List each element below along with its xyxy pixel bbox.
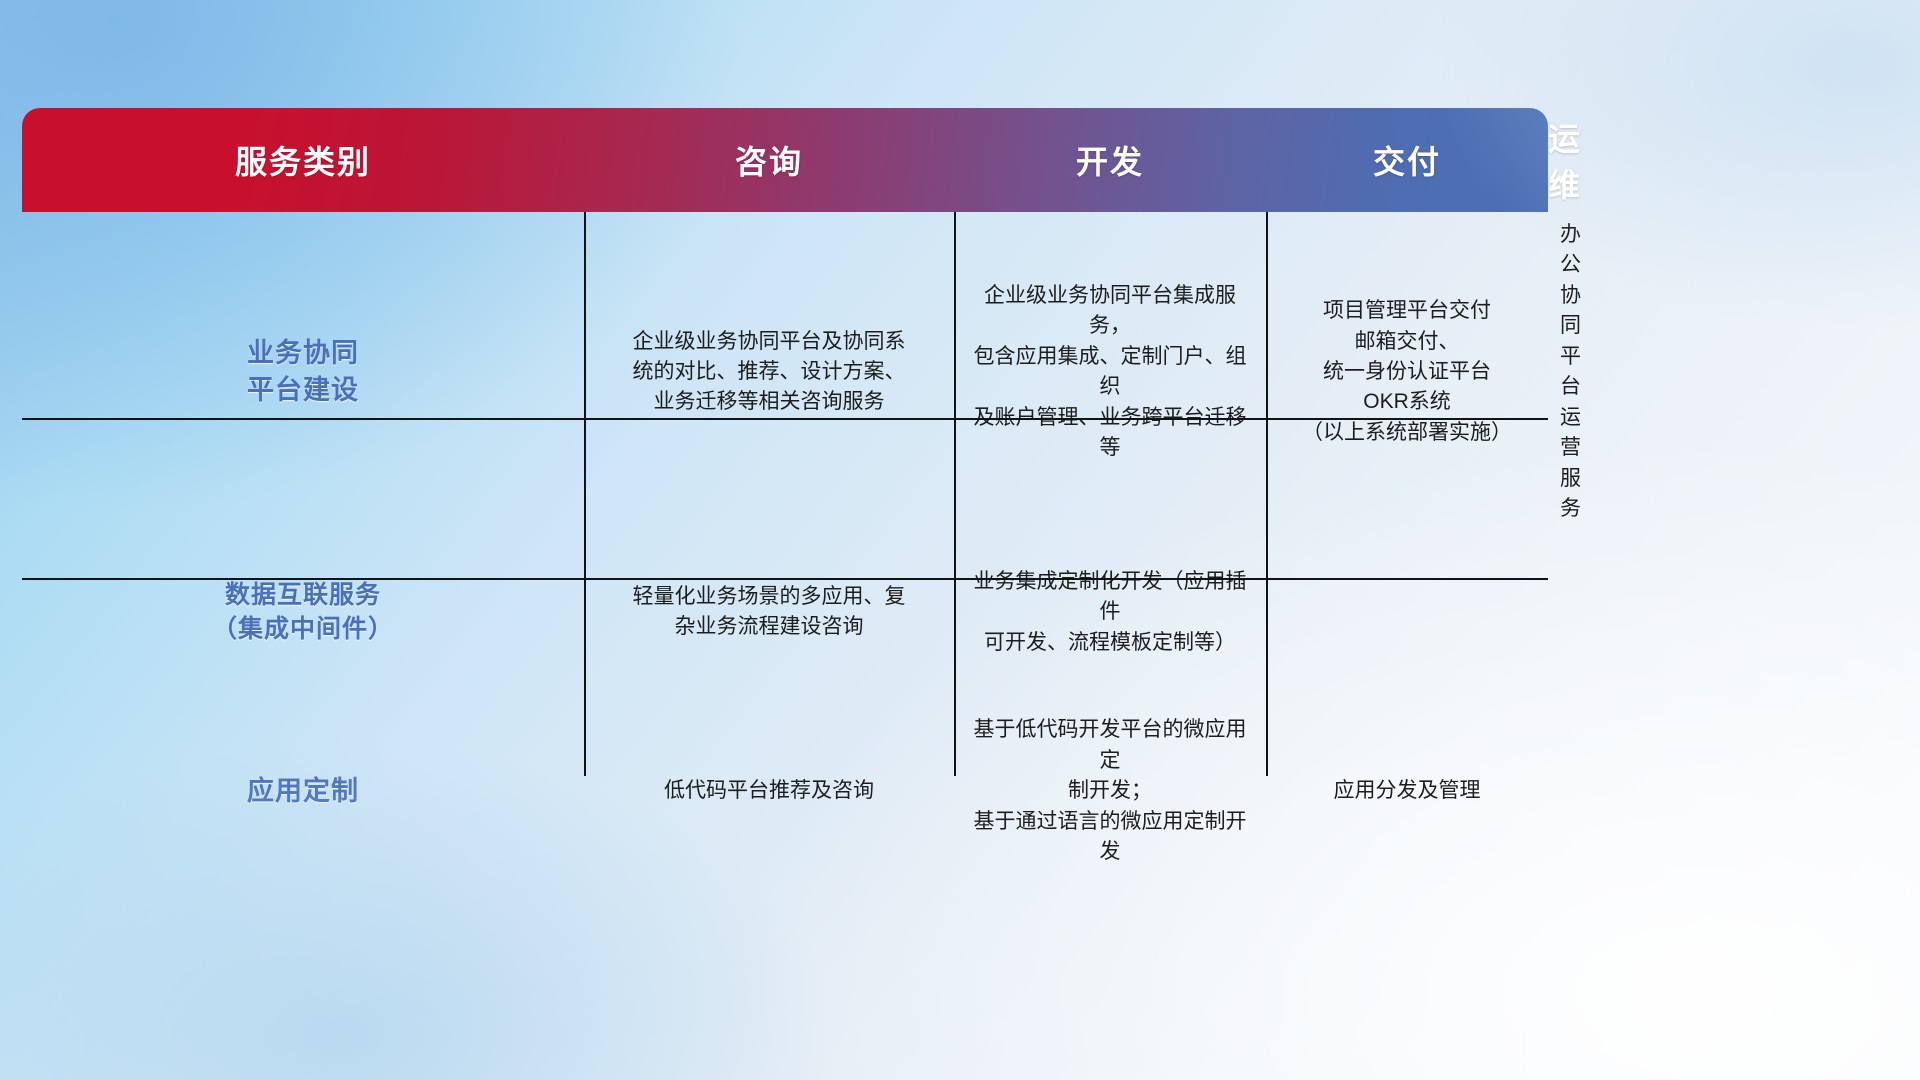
- cell-delivery: 应用分发及管理: [1266, 692, 1548, 890]
- cell-text: 应用分发及管理: [1278, 776, 1536, 806]
- slide-canvas: 服务类别 咨询 开发 交付 运维: [0, 0, 1920, 1080]
- row-divider-1: [22, 418, 1548, 420]
- table-row: 数据互联服务 （集成中间件） 轻量化业务场景的多应用、复 杂业务流程建设咨询 业…: [22, 532, 1548, 692]
- table-header: 服务类别 咨询 开发 交付 运维: [22, 108, 1548, 212]
- header-label-delivery: 交付: [1266, 137, 1548, 183]
- cell-text: 业务集成定制化开发（应用插件 可开发、流程模板定制等）: [966, 567, 1254, 658]
- service-matrix: 服务类别 咨询 开发 交付 运维: [22, 108, 1548, 890]
- row-category-label: 数据互联服务 （集成中间件）: [22, 532, 584, 692]
- cell-text: 数据互联服务 （集成中间件）: [34, 578, 572, 646]
- cell-text: 基于低代码开发平台的微应用定 制开发； 基于通过语言的微应用定制开发: [966, 715, 1254, 867]
- row-divider-2: [22, 578, 1548, 580]
- service-matrix-table: 服务类别 咨询 开发 交付 运维: [22, 108, 1548, 776]
- table-row: 业务协同 平台建设 企业级业务协同平台及协同系 统的对比、推荐、设计方案、 业务…: [22, 212, 1548, 532]
- column-divider-2: [954, 212, 956, 776]
- cell-text: 低代码平台推荐及咨询: [596, 776, 942, 806]
- column-divider-1: [584, 212, 586, 776]
- cell-text: 应用定制: [34, 773, 572, 810]
- cell-text: 企业级业务协同平台及协同系 统的对比、推荐、设计方案、 业务迁移等相关咨询服务: [596, 327, 942, 418]
- cell-development: 企业级业务协同平台集成服务， 包含应用集成、定制门户、组织 及账户管理、业务跨平…: [954, 212, 1266, 532]
- header-label-consulting: 咨询: [584, 137, 954, 183]
- header-label-development: 开发: [954, 137, 1266, 183]
- cell-text: 轻量化业务场景的多应用、复 杂业务流程建设咨询: [596, 582, 942, 643]
- cell-delivery: [1266, 532, 1548, 692]
- header-label-category: 服务类别: [22, 137, 584, 183]
- header-cell-consulting: 咨询: [584, 108, 954, 212]
- table-body: 业务协同 平台建设 企业级业务协同平台及协同系 统的对比、推荐、设计方案、 业务…: [22, 212, 1548, 890]
- cell-development: 业务集成定制化开发（应用插件 可开发、流程模板定制等）: [954, 532, 1266, 692]
- cell-consulting: 企业级业务协同平台及协同系 统的对比、推荐、设计方案、 业务迁移等相关咨询服务: [584, 212, 954, 532]
- row-category-label: 业务协同 平台建设: [22, 212, 584, 532]
- cell-consulting: 轻量化业务场景的多应用、复 杂业务流程建设咨询: [584, 532, 954, 692]
- row-category-label: 应用定制: [22, 692, 584, 890]
- header-cell-category: 服务类别: [22, 108, 584, 212]
- header-row: 服务类别 咨询 开发 交付 运维: [22, 108, 1548, 212]
- cell-text: 业务协同 平台建设: [34, 335, 572, 408]
- cell-delivery: 项目管理平台交付 邮箱交付、 统一身份认证平台 OKR系统 （以上系统部署实施）: [1266, 212, 1548, 532]
- header-cell-development: 开发: [954, 108, 1266, 212]
- cell-text: 企业级业务协同平台集成服务， 包含应用集成、定制门户、组织 及账户管理、业务跨平…: [966, 281, 1254, 464]
- table-row: 应用定制 低代码平台推荐及咨询 基于低代码开发平台的微应用定 制开发； 基于通过…: [22, 692, 1548, 890]
- cell-consulting: 低代码平台推荐及咨询: [584, 692, 954, 890]
- column-divider-3: [1266, 212, 1268, 776]
- cell-development: 基于低代码开发平台的微应用定 制开发； 基于通过语言的微应用定制开发: [954, 692, 1266, 890]
- cell-text: 项目管理平台交付 邮箱交付、 统一身份认证平台 OKR系统 （以上系统部署实施）: [1278, 296, 1536, 448]
- header-cell-delivery: 交付: [1266, 108, 1548, 212]
